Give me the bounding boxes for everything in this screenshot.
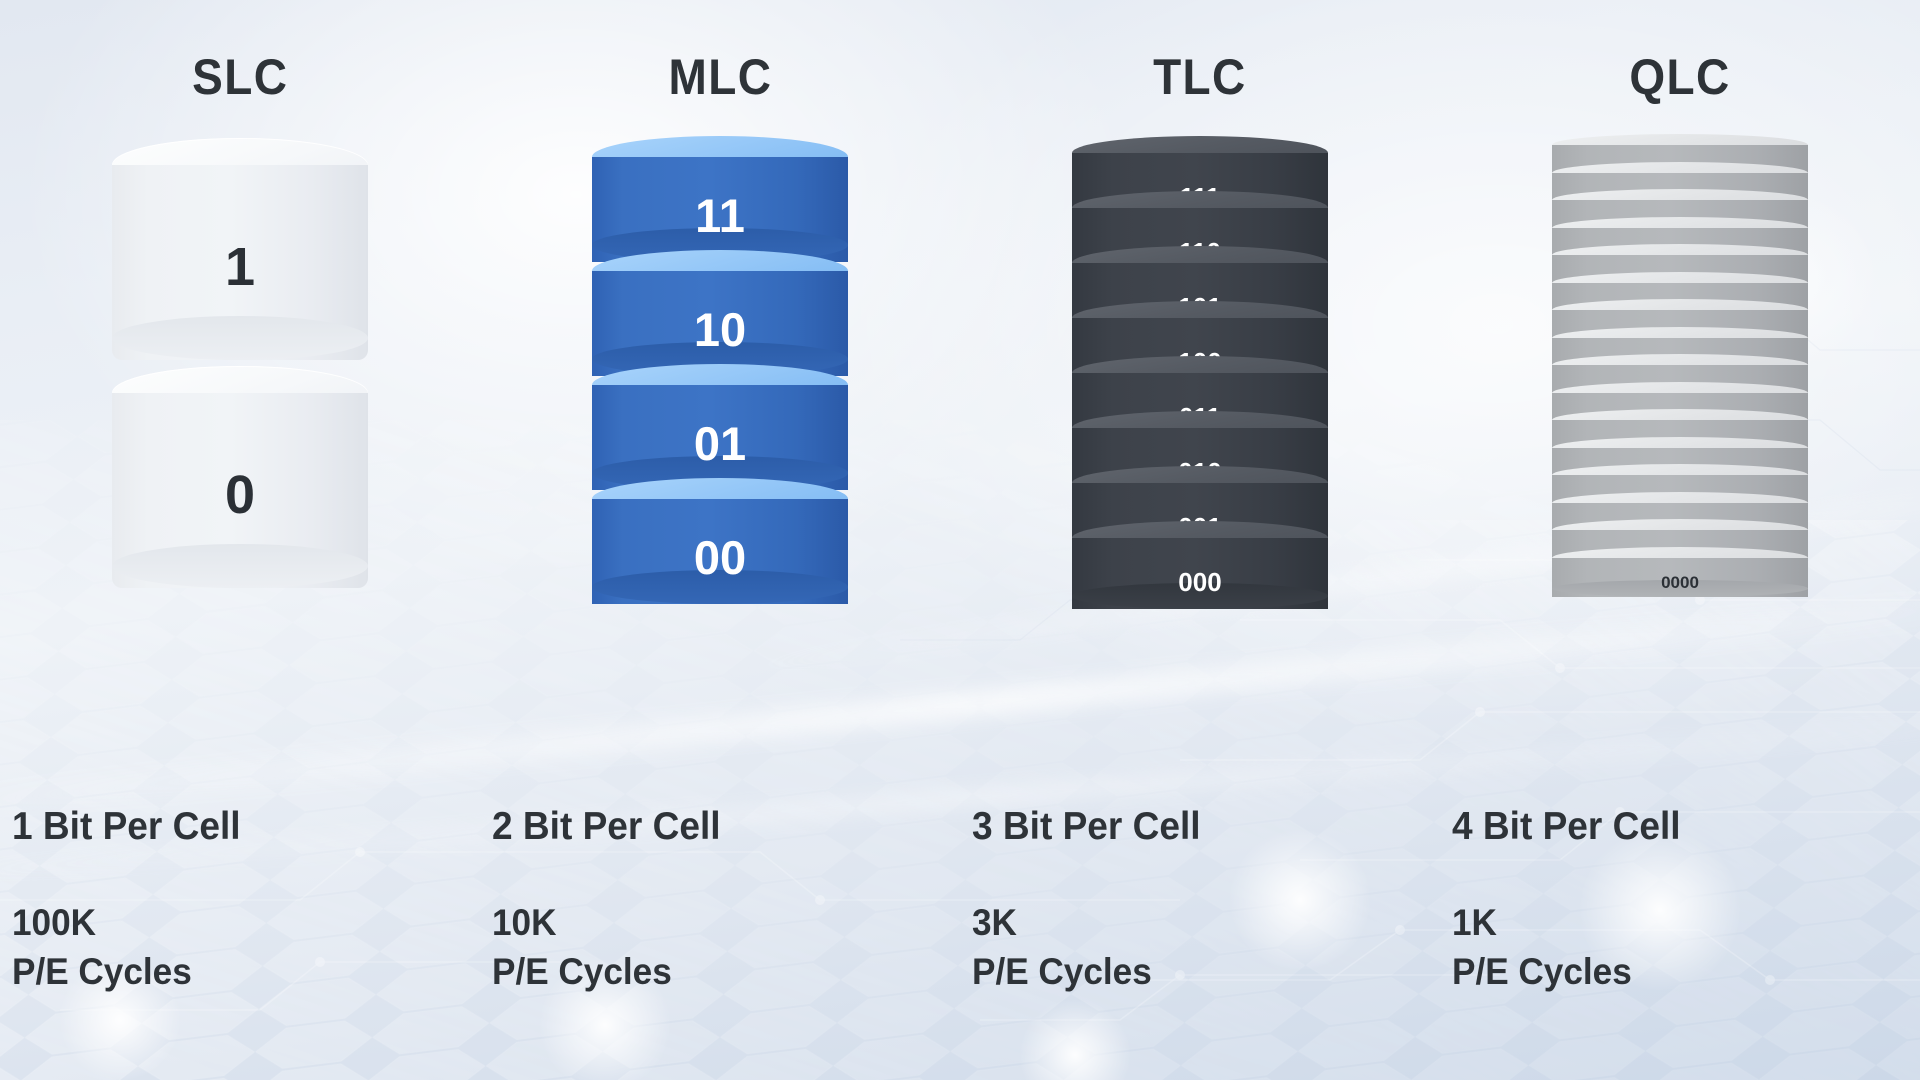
pe-cycles-slc: 100K P/E Cycles	[12, 898, 468, 996]
bits-per-cell-mlc: 2 Bit Per Cell	[492, 805, 948, 849]
column-title-slc: SLC	[192, 52, 288, 102]
column-mlc: MLC 11 10	[480, 0, 960, 1080]
pe-cycles-value: 1K	[1452, 898, 1908, 947]
level-label: 0	[112, 468, 368, 522]
mlc-cell-level[interactable]: 10	[592, 250, 848, 376]
column-title-qlc: QLC	[1629, 52, 1730, 102]
level-label: 10	[592, 306, 848, 353]
pe-cycles-tlc: 3K P/E Cycles	[972, 898, 1428, 996]
mlc-cell-level[interactable]: 01	[592, 364, 848, 490]
stack-slc: 1 0	[0, 128, 480, 648]
column-qlc: QLC 111111101101110010111010100110000111…	[1440, 0, 1920, 1080]
stack-mlc: 11 10 01	[480, 128, 960, 648]
mlc-cell-level[interactable]: 00	[592, 478, 848, 604]
cylinder-bottom	[112, 316, 368, 360]
pe-cycles-value: 100K	[12, 898, 468, 947]
level-label: 11	[592, 192, 848, 239]
mlc-cell-level[interactable]: 11	[592, 136, 848, 262]
infographic-canvas: SLC 1 0	[0, 0, 1920, 1080]
cylinder-bottom	[112, 544, 368, 588]
column-title-mlc: MLC	[668, 52, 772, 102]
pe-cycles-qlc: 1K P/E Cycles	[1452, 898, 1908, 996]
stack-tlc: 111110101100011010001000	[960, 128, 1440, 648]
level-label: 01	[592, 420, 848, 467]
bits-per-cell-slc: 1 Bit Per Cell	[12, 805, 468, 849]
pe-cycles-value: 10K	[492, 898, 948, 947]
qlc-cell-level[interactable]: 0000	[1552, 547, 1808, 597]
slc-cell-level[interactable]: 0	[112, 366, 368, 588]
level-label: 0000	[1552, 574, 1808, 591]
pe-cycles-value: 3K	[972, 898, 1428, 947]
slc-cell-level[interactable]: 1	[112, 138, 368, 360]
tlc-cell-level[interactable]: 000	[1072, 521, 1328, 609]
pe-cycles-unit: P/E Cycles	[972, 947, 1428, 996]
pe-cycles-unit: P/E Cycles	[12, 947, 468, 996]
pe-cycles-mlc: 10K P/E Cycles	[492, 898, 948, 996]
bits-per-cell-tlc: 3 Bit Per Cell	[972, 805, 1428, 849]
level-label: 000	[1072, 569, 1328, 595]
level-label: 1	[112, 240, 368, 294]
column-slc: SLC 1 0	[0, 0, 480, 1080]
cell-type-columns: SLC 1 0	[0, 0, 1920, 1080]
column-tlc: TLC 111110101100011010001000 3 Bit Per C…	[960, 0, 1440, 1080]
pe-cycles-unit: P/E Cycles	[492, 947, 948, 996]
pe-cycles-unit: P/E Cycles	[1452, 947, 1908, 996]
stack-qlc: 1111111011011100101110101001100001110110…	[1440, 128, 1920, 648]
level-label: 00	[592, 534, 848, 581]
bits-per-cell-qlc: 4 Bit Per Cell	[1452, 805, 1908, 849]
column-title-tlc: TLC	[1153, 52, 1247, 102]
